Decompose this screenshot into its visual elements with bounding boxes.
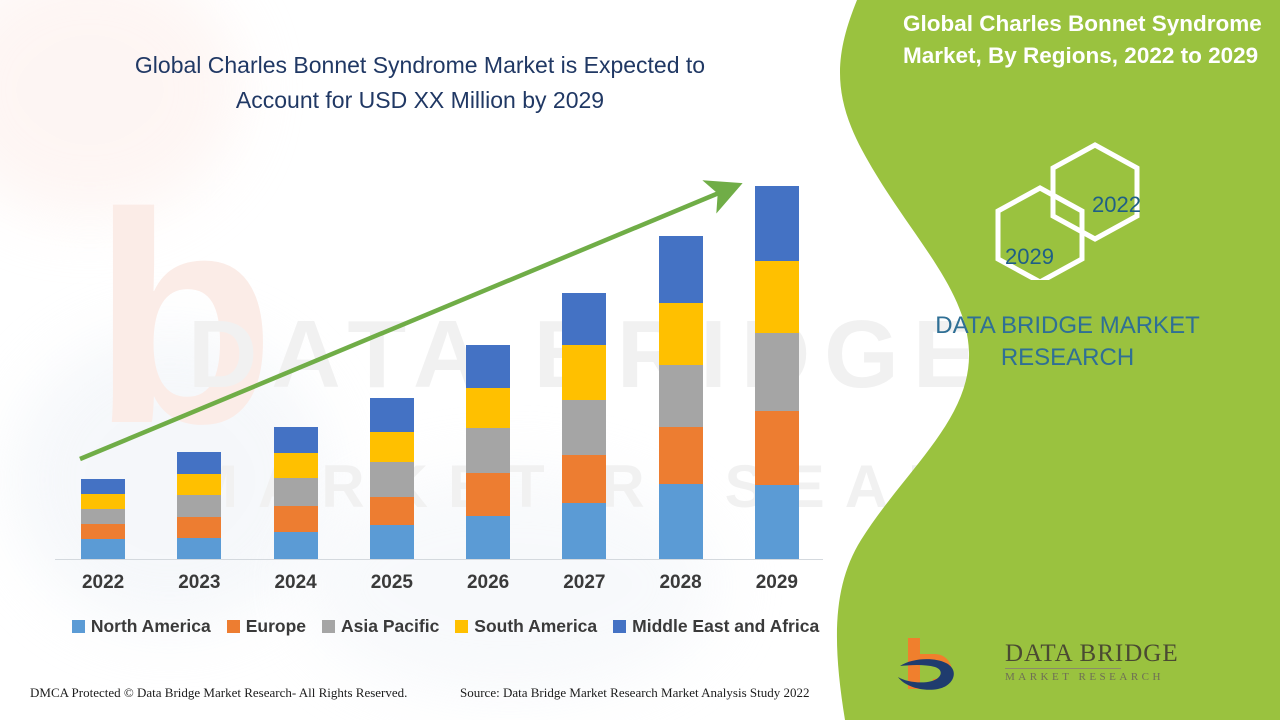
bar-segment[interactable] bbox=[370, 497, 414, 525]
bar-segment[interactable] bbox=[659, 303, 703, 365]
bar-segment[interactable] bbox=[466, 516, 510, 559]
bar-segment[interactable] bbox=[177, 517, 221, 538]
legend-swatch-icon bbox=[322, 620, 335, 633]
logo-divider bbox=[1005, 668, 1121, 669]
footer: DMCA Protected © Data Bridge Market Rese… bbox=[0, 682, 855, 712]
bar-segment[interactable] bbox=[81, 509, 125, 524]
legend-swatch-icon bbox=[72, 620, 85, 633]
bar-segment[interactable] bbox=[562, 400, 606, 455]
x-axis-label-2027: 2027 bbox=[536, 572, 632, 594]
logo-wordmark: DATA BRIDGE MARKET RESEARCH bbox=[1005, 640, 1179, 685]
bar-segment[interactable] bbox=[562, 345, 606, 400]
bar-segment[interactable] bbox=[370, 462, 414, 497]
bar-segment[interactable] bbox=[274, 453, 318, 478]
bar-segment[interactable] bbox=[755, 261, 799, 333]
bar-segment[interactable] bbox=[177, 474, 221, 495]
legend-label: Asia Pacific bbox=[341, 616, 439, 637]
bar-segment[interactable] bbox=[466, 428, 510, 473]
bar-segment[interactable] bbox=[466, 388, 510, 428]
bar-segment[interactable] bbox=[274, 427, 318, 453]
side-panel-content: Global Charles Bonnet Syndrome Market, B… bbox=[855, 0, 1280, 720]
stacked-bar[interactable] bbox=[659, 236, 703, 559]
slide-root: b DATA BRIDGE MARKET RESEARCH Global Cha… bbox=[0, 0, 1280, 720]
stacked-bar[interactable] bbox=[274, 427, 318, 559]
hex-badge-2022-label: 2022 bbox=[1092, 192, 1141, 218]
bar-segment[interactable] bbox=[370, 525, 414, 559]
x-axis-label-2022: 2022 bbox=[55, 572, 151, 594]
bar-segment[interactable] bbox=[755, 186, 799, 261]
legend-item[interactable]: North America bbox=[72, 616, 211, 637]
stacked-bar[interactable] bbox=[562, 293, 606, 559]
side-panel-title: Global Charles Bonnet Syndrome Market, B… bbox=[903, 8, 1273, 72]
legend-item[interactable]: South America bbox=[455, 616, 597, 637]
bar-segment[interactable] bbox=[562, 293, 606, 345]
bar-group-2029 bbox=[729, 170, 825, 559]
bar-segment[interactable] bbox=[177, 452, 221, 474]
bar-segment[interactable] bbox=[274, 506, 318, 532]
bar-segment[interactable] bbox=[466, 473, 510, 516]
legend-label: Middle East and Africa bbox=[632, 616, 819, 637]
bar-segment[interactable] bbox=[755, 333, 799, 411]
stacked-bar[interactable] bbox=[466, 345, 510, 559]
bar-segment[interactable] bbox=[81, 524, 125, 539]
footer-source: Source: Data Bridge Market Research Mark… bbox=[460, 685, 809, 701]
bar-segment[interactable] bbox=[562, 503, 606, 559]
x-axis-label-2024: 2024 bbox=[248, 572, 344, 594]
side-panel-title-line-1: Global Charles Bonnet Syndrome bbox=[903, 8, 1273, 40]
side-panel-title-line-2: Market, By Regions, 2022 to 2029 bbox=[903, 40, 1273, 72]
bar-segment[interactable] bbox=[274, 532, 318, 559]
chart-legend: North AmericaEuropeAsia PacificSouth Ame… bbox=[58, 616, 833, 637]
legend-item[interactable]: Middle East and Africa bbox=[613, 616, 819, 637]
bar-segment[interactable] bbox=[659, 484, 703, 559]
bar-group-2026 bbox=[440, 170, 536, 559]
footer-copyright: DMCA Protected © Data Bridge Market Rese… bbox=[30, 685, 407, 701]
bar-segment[interactable] bbox=[755, 485, 799, 559]
x-axis-label-2029: 2029 bbox=[729, 572, 825, 594]
logo-tagline: MARKET RESEARCH bbox=[1005, 670, 1179, 685]
hex-badge-group: 2022 2029 bbox=[985, 140, 1185, 280]
legend-label: South America bbox=[474, 616, 597, 637]
bar-group-2023 bbox=[151, 170, 247, 559]
hex-badge-2029-label: 2029 bbox=[1005, 244, 1054, 270]
bar-chart-plot-area bbox=[55, 170, 825, 559]
x-axis-labels: 20222023202420252026202720282029 bbox=[55, 572, 825, 594]
bar-segment[interactable] bbox=[177, 538, 221, 559]
bar-segment[interactable] bbox=[81, 479, 125, 494]
x-axis-label-2026: 2026 bbox=[440, 572, 536, 594]
legend-swatch-icon bbox=[227, 620, 240, 633]
bar-group-2025 bbox=[344, 170, 440, 559]
bar-segment[interactable] bbox=[659, 427, 703, 484]
legend-item[interactable]: Europe bbox=[227, 616, 306, 637]
bar-group-2027 bbox=[536, 170, 632, 559]
legend-swatch-icon bbox=[455, 620, 468, 633]
chart-title-line-2: Account for USD XX Million by 2029 bbox=[60, 83, 780, 118]
bar-segment[interactable] bbox=[370, 398, 414, 432]
chart-title: Global Charles Bonnet Syndrome Market is… bbox=[60, 48, 780, 118]
x-axis-label-2028: 2028 bbox=[633, 572, 729, 594]
x-axis-label-2025: 2025 bbox=[344, 572, 440, 594]
bar-segment[interactable] bbox=[562, 455, 606, 503]
bar-group-2022 bbox=[55, 170, 151, 559]
stacked-bar[interactable] bbox=[370, 398, 414, 559]
chart-title-line-1: Global Charles Bonnet Syndrome Market is… bbox=[60, 48, 780, 83]
legend-label: North America bbox=[91, 616, 211, 637]
stacked-bar[interactable] bbox=[81, 479, 125, 559]
brand-name: DATA BRIDGE MARKET RESEARCH bbox=[895, 310, 1240, 374]
brand-name-line-1: DATA BRIDGE MARKET bbox=[895, 310, 1240, 342]
bar-group-2024 bbox=[248, 170, 344, 559]
bar-group-2028 bbox=[633, 170, 729, 559]
bar-segment[interactable] bbox=[81, 539, 125, 559]
bar-segment[interactable] bbox=[177, 495, 221, 517]
bar-segment[interactable] bbox=[274, 478, 318, 506]
x-axis-label-2023: 2023 bbox=[151, 572, 247, 594]
bar-segment[interactable] bbox=[659, 365, 703, 427]
x-axis-line bbox=[55, 559, 823, 560]
legend-item[interactable]: Asia Pacific bbox=[322, 616, 439, 637]
bar-segment[interactable] bbox=[370, 432, 414, 462]
bar-segment[interactable] bbox=[466, 345, 510, 388]
legend-swatch-icon bbox=[613, 620, 626, 633]
legend-label: Europe bbox=[246, 616, 306, 637]
stacked-bar[interactable] bbox=[755, 186, 799, 559]
brand-name-line-2: RESEARCH bbox=[895, 342, 1240, 374]
bar-segment[interactable] bbox=[659, 236, 703, 303]
logo-name: DATA BRIDGE bbox=[1005, 640, 1179, 667]
stacked-bar[interactable] bbox=[177, 452, 221, 559]
bar-segment[interactable] bbox=[755, 411, 799, 485]
bar-segment[interactable] bbox=[81, 494, 125, 509]
